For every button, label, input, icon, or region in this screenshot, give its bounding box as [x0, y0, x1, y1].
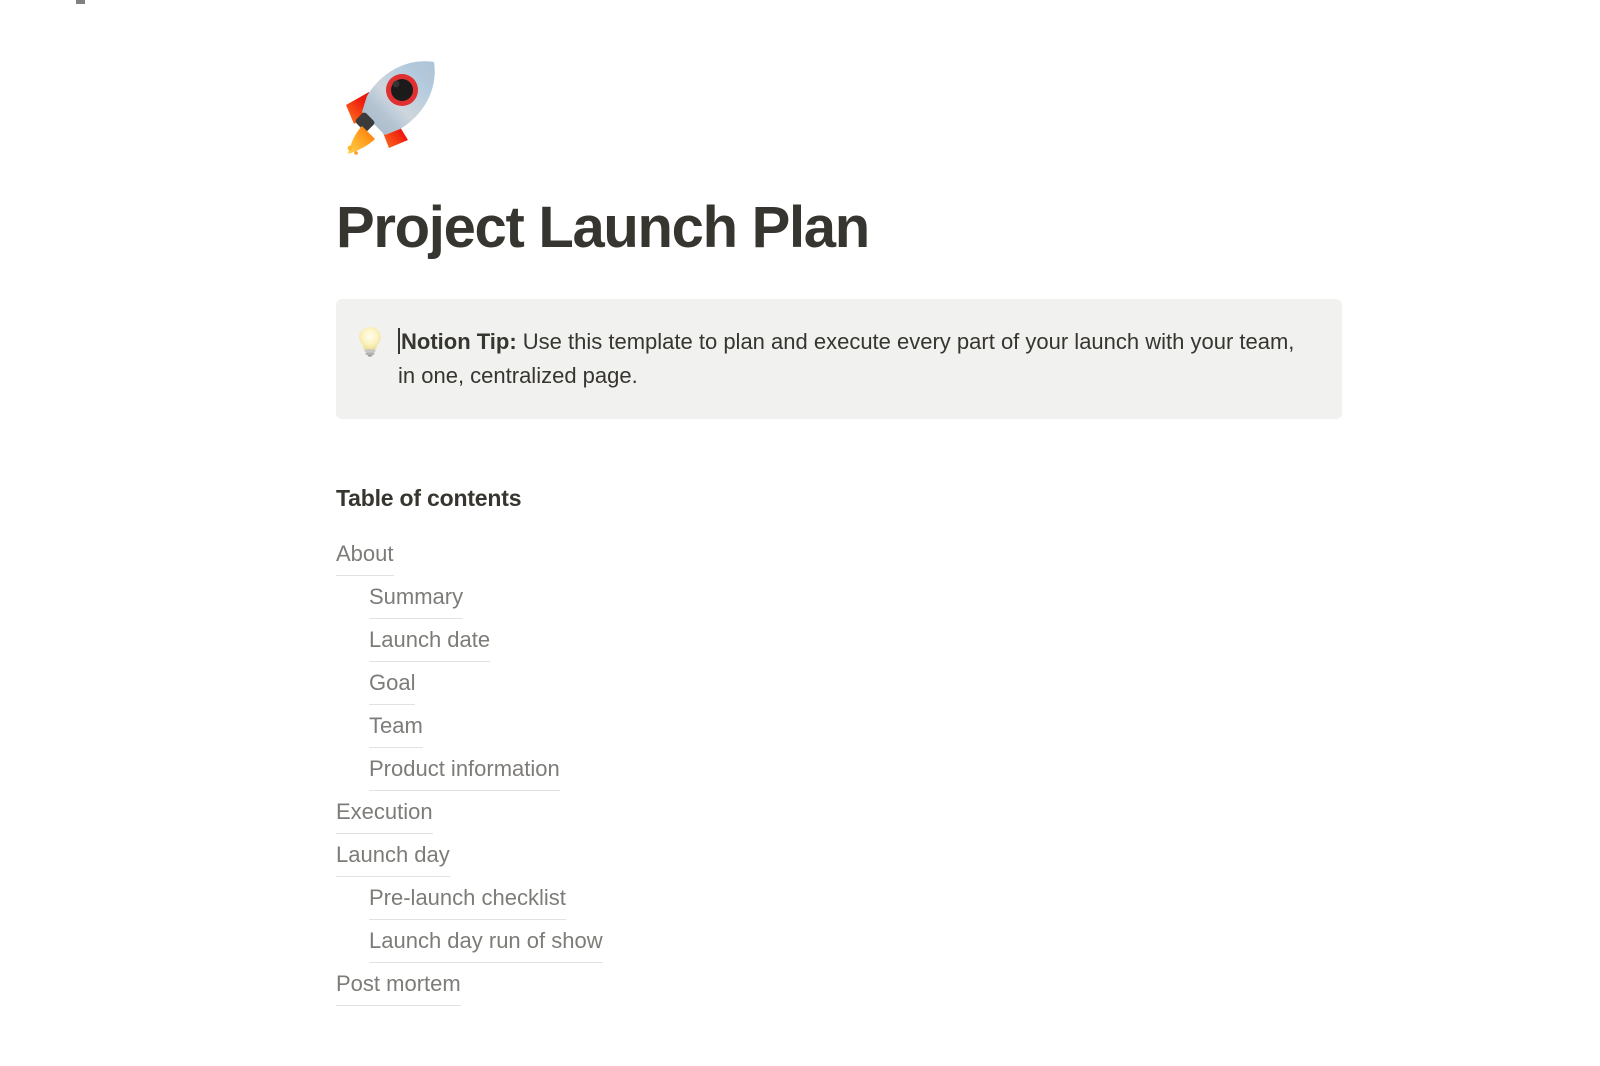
page-title: Project Launch Plan	[336, 196, 1342, 260]
text-caret	[398, 328, 400, 354]
toc-link-execution[interactable]: Execution	[336, 790, 433, 834]
toc-link-product-information[interactable]: Product information	[369, 747, 560, 791]
toc-link-pre-launch-checklist[interactable]: Pre-launch checklist	[369, 876, 566, 920]
toc-row: Summary	[336, 575, 1342, 618]
toc-link-launch-day-run-of-show[interactable]: Launch day run of show	[369, 919, 603, 963]
toc-link-goal[interactable]: Goal	[369, 661, 415, 705]
toc-row: Pre-launch checklist	[336, 876, 1342, 919]
toc-row: Execution	[336, 790, 1342, 833]
toc-row: Post mortem	[336, 962, 1342, 1005]
toc-row: Launch day	[336, 833, 1342, 876]
notion-page: Project Launch Plan	[0, 0, 1600, 1005]
callout-lead: Notion Tip:	[401, 329, 517, 354]
page-content: Project Launch Plan	[336, 52, 1342, 1005]
table-of-contents-heading: Table of contents	[336, 485, 1342, 512]
toc-row: Team	[336, 704, 1342, 747]
toc-row: Launch date	[336, 618, 1342, 661]
toc-link-post-mortem[interactable]: Post mortem	[336, 962, 461, 1006]
toc-link-team[interactable]: Team	[369, 704, 423, 748]
callout-body-text: Use this template to plan and execute ev…	[398, 329, 1294, 388]
toc-row: Product information	[336, 747, 1342, 790]
toc-row: Goal	[336, 661, 1342, 704]
toc-row: About	[336, 532, 1342, 575]
table-of-contents: About Summary Launch date Goal Team Prod…	[336, 532, 1342, 1005]
toc-link-launch-day[interactable]: Launch day	[336, 833, 450, 877]
toc-row: Launch day run of show	[336, 919, 1342, 962]
callout-block[interactable]: Notion Tip: Use this template to plan an…	[336, 299, 1342, 419]
callout-text[interactable]: Notion Tip: Use this template to plan an…	[398, 325, 1316, 393]
rocket-emoji-icon[interactable]	[336, 52, 1342, 170]
toc-link-summary[interactable]: Summary	[369, 575, 463, 619]
toc-link-launch-date[interactable]: Launch date	[369, 618, 490, 662]
toc-link-about[interactable]: About	[336, 532, 394, 576]
light-bulb-icon	[356, 325, 384, 366]
